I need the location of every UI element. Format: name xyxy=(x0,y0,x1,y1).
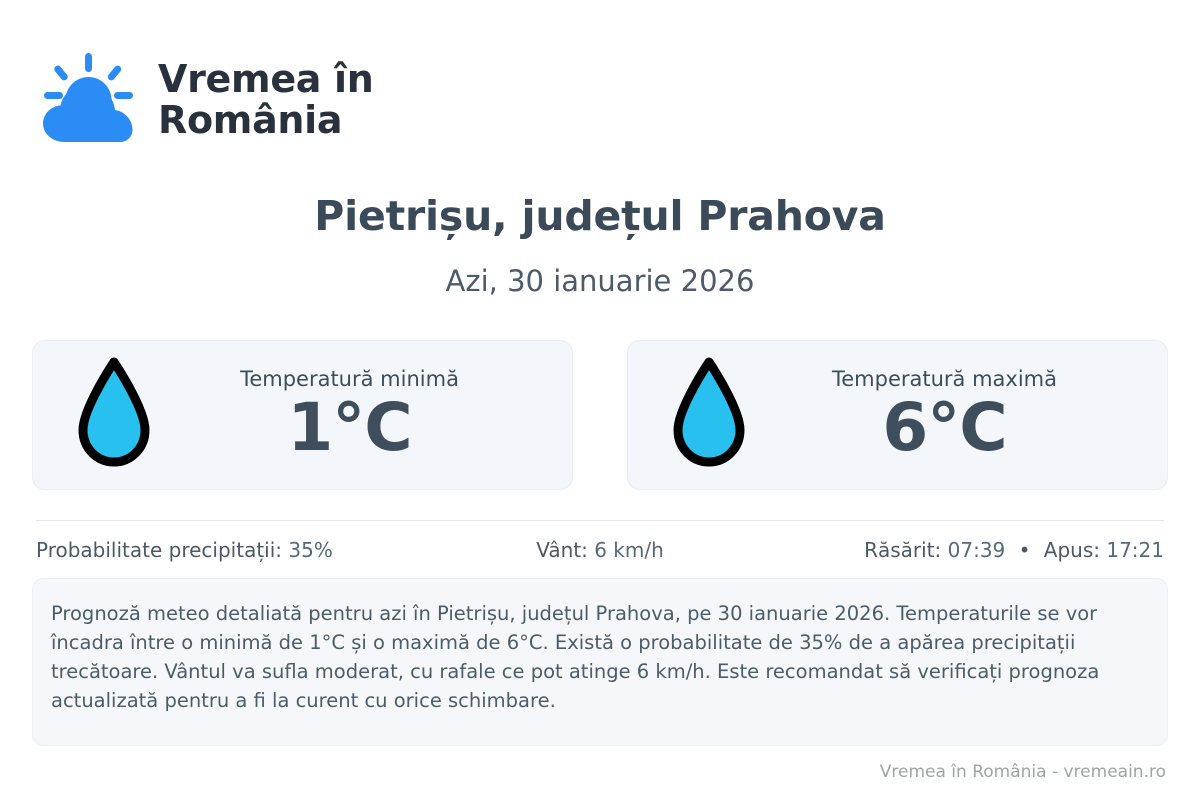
brand-name: Vremea în România xyxy=(158,59,374,140)
site-footer: Vremea în România - vremeain.ro xyxy=(880,762,1166,782)
precipitation-stat: Probabilitate precipitații: 35% xyxy=(36,538,412,562)
sun-behind-cloud-icon xyxy=(36,48,140,152)
temperature-max-value: 6°C xyxy=(752,393,1137,462)
wind-stat: Vânt: 6 km/h xyxy=(412,538,788,562)
temperature-max-card: Temperatură maximă 6°C xyxy=(627,340,1168,490)
forecast-description-text: Prognoză meteo detaliată pentru azi în P… xyxy=(51,599,1141,715)
weather-stats-row: Probabilitate precipitații: 35% Vânt: 6 … xyxy=(36,538,1164,562)
site-logo[interactable]: Vremea în România xyxy=(36,48,374,152)
sunset-label: Apus: xyxy=(1044,538,1100,562)
water-drop-icon xyxy=(666,356,752,474)
temperature-min-text: Temperatură minimă 1°C xyxy=(157,368,558,462)
sunrise-label: Răsărit: xyxy=(864,538,941,562)
temperature-max-label: Temperatură maximă xyxy=(752,368,1137,391)
wind-label: Vânt: xyxy=(536,538,588,562)
sunset-value: 17:21 xyxy=(1106,538,1164,562)
temperature-min-value: 1°C xyxy=(157,393,542,462)
separator-bullet: • xyxy=(1012,538,1038,562)
weather-page: Vremea în România Pietrișu, județul Prah… xyxy=(0,0,1200,800)
wind-value: 6 km/h xyxy=(594,538,664,562)
temperature-max-text: Temperatură maximă 6°C xyxy=(752,368,1153,462)
stats-divider xyxy=(36,520,1164,521)
sunrise-value: 07:39 xyxy=(948,538,1006,562)
forecast-description-panel: Prognoză meteo detaliată pentru azi în P… xyxy=(32,578,1168,746)
page-title: Pietrișu, județul Prahova xyxy=(0,192,1200,240)
temperature-cards: Temperatură minimă 1°C Temperatură maxim… xyxy=(32,340,1168,490)
water-drop-icon xyxy=(71,356,157,474)
temperature-min-card: Temperatură minimă 1°C xyxy=(32,340,573,490)
precipitation-label: Probabilitate precipitații: xyxy=(36,538,282,562)
temperature-min-label: Temperatură minimă xyxy=(157,368,542,391)
sun-times-stat: Răsărit: 07:39 • Apus: 17:21 xyxy=(788,538,1164,562)
page-subtitle-date: Azi, 30 ianuarie 2026 xyxy=(0,264,1200,298)
precipitation-value: 35% xyxy=(288,538,332,562)
